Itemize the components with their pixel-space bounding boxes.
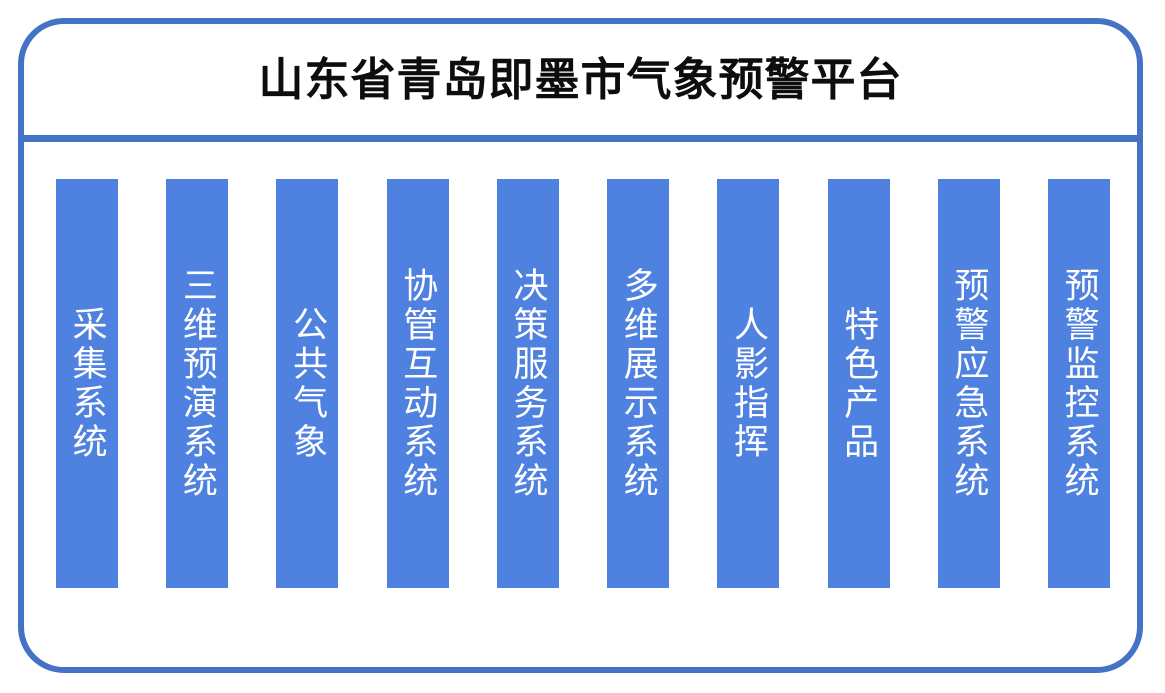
module-bar-label: 决策服务系统 xyxy=(507,267,548,501)
module-bar-label: 协管互动系统 xyxy=(397,267,438,501)
module-bar-label: 预警应急系统 xyxy=(948,267,989,501)
platform-title-band: 山东省青岛即墨市气象预警平台 xyxy=(18,18,1143,141)
module-bar-coordination-interaction-system[interactable]: 协管互动系统 xyxy=(387,179,449,588)
module-bar-label: 采集系统 xyxy=(66,306,107,462)
module-bar-collection-system[interactable]: 采集系统 xyxy=(56,179,118,588)
module-bar-label: 特色产品 xyxy=(838,306,879,462)
module-bar-multidimensional-display-system[interactable]: 多维展示系统 xyxy=(607,179,669,588)
platform-architecture-diagram: 山东省青岛即墨市气象预警平台 采集系统 三维预演系统 公共气象 协管互动系统 决… xyxy=(0,0,1165,693)
module-bar-label: 多维展示系统 xyxy=(617,267,658,501)
module-bar-warning-emergency-system[interactable]: 预警应急系统 xyxy=(938,179,1000,588)
module-bar-label: 公共气象 xyxy=(287,306,328,462)
module-bar-3d-rehearsal-system[interactable]: 三维预演系统 xyxy=(166,179,228,588)
module-bar-public-meteorology[interactable]: 公共气象 xyxy=(276,179,338,588)
module-bar-decision-service-system[interactable]: 决策服务系统 xyxy=(497,179,559,588)
module-bar-specialty-products[interactable]: 特色产品 xyxy=(828,179,890,588)
module-bar-label: 预警监控系统 xyxy=(1058,267,1099,501)
module-bar-weather-modification-command[interactable]: 人影指挥 xyxy=(717,179,779,588)
module-bar-warning-monitoring-system[interactable]: 预警监控系统 xyxy=(1048,179,1110,588)
module-bar-label: 三维预演系统 xyxy=(177,267,218,501)
page-title: 山东省青岛即墨市气象预警平台 xyxy=(258,57,902,102)
title-divider xyxy=(21,135,1140,142)
module-bars-row: 采集系统 三维预演系统 公共气象 协管互动系统 决策服务系统 多维展示系统 人影… xyxy=(56,179,1110,588)
module-bar-label: 人影指挥 xyxy=(728,306,769,462)
